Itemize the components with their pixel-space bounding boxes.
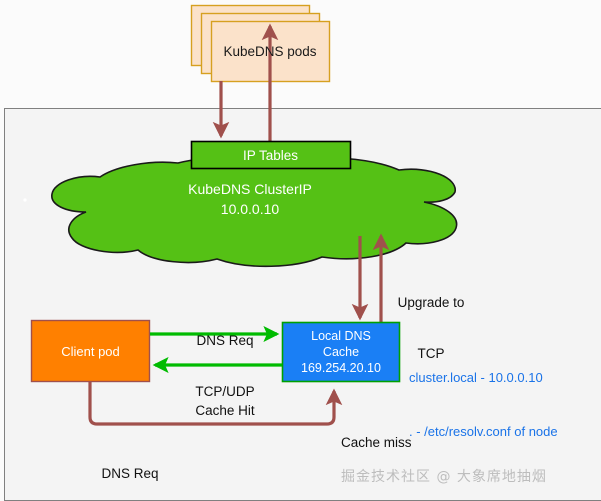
diagram-canvas: KubeDNS pods IP Tables KubeDNS ClusterIP… bbox=[0, 0, 601, 501]
ip-tables-box[interactable] bbox=[192, 142, 351, 169]
local-dns-cache-box[interactable] bbox=[283, 323, 400, 382]
kubedns-clusterip-cloud[interactable] bbox=[52, 157, 457, 266]
speck-artifact bbox=[23, 198, 26, 201]
client-pod-box[interactable] bbox=[32, 321, 150, 382]
diagram-shapes-layer bbox=[0, 0, 601, 501]
